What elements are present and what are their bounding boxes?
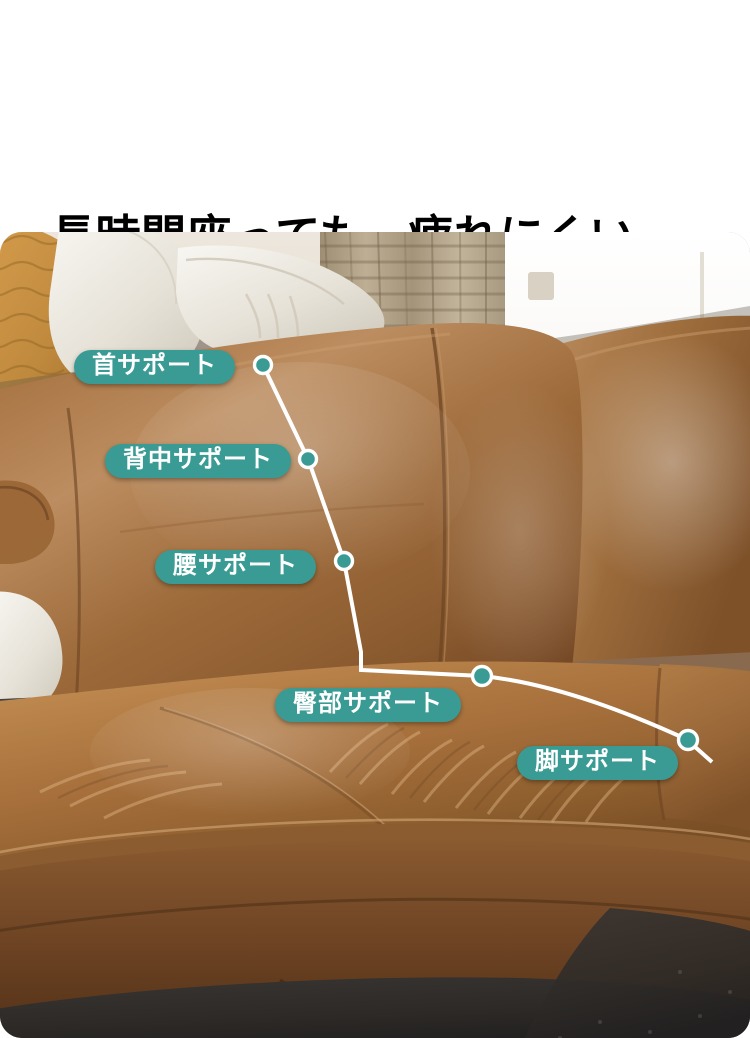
callout-label-neck[interactable]: 首サポート [74,350,235,384]
callout-label-leg[interactable]: 脚サポート [517,746,678,780]
callout-label-waist[interactable]: 腰サポート [155,550,316,584]
callout-label-hip[interactable]: 臀部サポート [275,688,461,722]
callout-label-back[interactable]: 背中サポート [105,444,291,478]
promo-page: 長時間座っても、疲れにくい 体全体をしっかり支える設計 [0,0,750,1038]
